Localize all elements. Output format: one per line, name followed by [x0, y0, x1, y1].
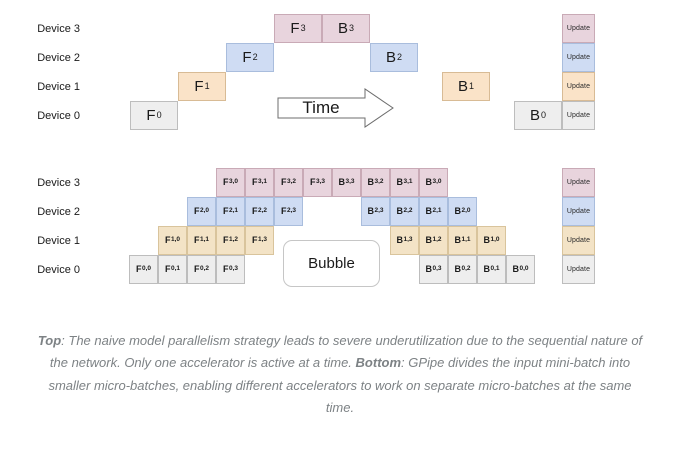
bot-cell-F1-2: F1,2 — [216, 226, 245, 255]
caption-lead-bottom: Bottom — [356, 355, 402, 370]
bot-cell-B1-1-sub: 1,1 — [461, 237, 470, 244]
bot-cell-F0-2: F0,2 — [187, 255, 216, 284]
top-cell-F1: F1 — [178, 72, 226, 101]
bot-cell-F0-3-base: F — [223, 265, 229, 274]
top-cell-B2-base: B — [386, 50, 396, 65]
bot-cell-B1-2: B1,2 — [419, 226, 448, 255]
bot-cell-B3-2: B3,2 — [361, 168, 390, 197]
bot-cell-F2-1-sub: 2,1 — [229, 208, 238, 215]
bot-cell-F2-2: F2,2 — [245, 197, 274, 226]
bot-cell-B1-0-sub: 1,0 — [490, 237, 499, 244]
bot-cell-B2-0-sub: 2,0 — [461, 208, 470, 215]
top-cell-F3: F3 — [274, 14, 322, 43]
bot-cell-B3-3-sub: 3,3 — [345, 179, 354, 186]
bot-cell-B3-1: B3,1 — [390, 168, 419, 197]
bot-cell-B2-2-sub: 2,2 — [403, 208, 412, 215]
bot-cell-B0-3-sub: 0,3 — [432, 266, 441, 273]
bot-cell-B1-3-base: B — [396, 236, 403, 245]
top-cell-F0: F0 — [130, 101, 178, 130]
bot-cell-F2-3: F2,3 — [274, 197, 303, 226]
bot-cell-B3-0: B3,0 — [419, 168, 448, 197]
top-cell-B1: B1 — [442, 72, 490, 101]
bottom-update-device1: Update — [562, 226, 595, 255]
bot-cell-B0-1-sub: 0,1 — [490, 266, 499, 273]
bot-cell-B3-1-sub: 3,1 — [403, 179, 412, 186]
bot-cell-F1-3-base: F — [252, 236, 258, 245]
bottom-update-device2: Update — [562, 197, 595, 226]
top-device-label-3: Device 3 — [18, 24, 80, 35]
top-cell-F2-sub: 2 — [253, 53, 258, 62]
bottom-device-label-1: Device 1 — [18, 236, 80, 247]
bot-cell-B2-3-base: B — [367, 207, 374, 216]
top-cell-B0: B0 — [514, 101, 562, 130]
figure-root: Device 3 Device 2 Device 1 Device 0 F3 B… — [0, 0, 679, 451]
bot-cell-F1-2-base: F — [223, 236, 229, 245]
top-cell-F1-base: F — [194, 79, 203, 94]
bot-cell-F3-3-sub: 3,3 — [316, 179, 325, 186]
bot-cell-B2-1-sub: 2,1 — [432, 208, 441, 215]
bot-cell-F0-0-sub: 0,0 — [142, 266, 151, 273]
bot-cell-F3-3-base: F — [310, 178, 316, 187]
bot-cell-F0-0: F0,0 — [129, 255, 158, 284]
bot-cell-F3-1-base: F — [252, 178, 258, 187]
top-cell-B0-base: B — [530, 108, 540, 123]
bot-cell-B1-3-sub: 1,3 — [403, 237, 412, 244]
top-cell-B2-sub: 2 — [397, 53, 402, 62]
bot-cell-F2-3-base: F — [281, 207, 287, 216]
top-cell-F0-base: F — [146, 108, 155, 123]
bottom-update-device3: Update — [562, 168, 595, 197]
bot-cell-F3-3: F3,3 — [303, 168, 332, 197]
time-arrow: Time — [277, 88, 395, 128]
bot-cell-F1-1-base: F — [194, 236, 200, 245]
top-cell-F1-sub: 1 — [205, 82, 210, 91]
bot-cell-F0-2-base: F — [194, 265, 200, 274]
bot-cell-B1-1-base: B — [454, 236, 461, 245]
bot-cell-B2-0-base: B — [454, 207, 461, 216]
caption-lead-top: Top — [38, 333, 61, 348]
top-device-label-2: Device 2 — [18, 53, 80, 64]
bot-cell-B3-1-base: B — [396, 178, 403, 187]
bot-cell-F3-2-base: F — [281, 178, 287, 187]
bot-cell-F1-3-sub: 1,3 — [258, 237, 267, 244]
top-device-label-0: Device 0 — [18, 111, 80, 122]
bot-cell-B0-2: B0,2 — [448, 255, 477, 284]
top-update-device3: Update — [562, 14, 595, 43]
bot-cell-B3-3: B3,3 — [332, 168, 361, 197]
bot-cell-F2-1: F2,1 — [216, 197, 245, 226]
top-cell-B3-base: B — [338, 21, 348, 36]
time-arrow-icon — [277, 88, 395, 128]
bot-cell-F0-3: F0,3 — [216, 255, 245, 284]
bot-cell-F2-0: F2,0 — [187, 197, 216, 226]
bot-cell-B0-2-base: B — [454, 265, 461, 274]
bot-cell-B0-1-base: B — [483, 265, 490, 274]
top-cell-F2: F2 — [226, 43, 274, 72]
bot-cell-F1-3: F1,3 — [245, 226, 274, 255]
bot-cell-B2-1: B2,1 — [419, 197, 448, 226]
bot-cell-F3-0: F3,0 — [216, 168, 245, 197]
bot-cell-B2-2: B2,2 — [390, 197, 419, 226]
top-cell-B3: B3 — [322, 14, 370, 43]
bot-cell-F0-2-sub: 0,2 — [200, 266, 209, 273]
bot-cell-F1-0-sub: 1,0 — [171, 237, 180, 244]
bot-cell-F0-1-sub: 0,1 — [171, 266, 180, 273]
bot-cell-F2-1-base: F — [223, 207, 229, 216]
bot-cell-B0-3: B0,3 — [419, 255, 448, 284]
top-update-device0: Update — [562, 101, 595, 130]
bot-cell-F2-2-base: F — [252, 207, 258, 216]
bot-cell-F2-0-sub: 2,0 — [200, 208, 209, 215]
bot-cell-F3-1-sub: 3,1 — [258, 179, 267, 186]
top-cell-F0-sub: 0 — [157, 111, 162, 120]
bot-cell-F2-2-sub: 2,2 — [258, 208, 267, 215]
bot-cell-F0-3-sub: 0,3 — [229, 266, 238, 273]
bot-cell-F2-3-sub: 2,3 — [287, 208, 296, 215]
top-update-device2: Update — [562, 43, 595, 72]
bot-cell-F3-2-sub: 3,2 — [287, 179, 296, 186]
bot-cell-F0-1: F0,1 — [158, 255, 187, 284]
top-device-label-1: Device 1 — [18, 82, 80, 93]
top-update-device1: Update — [562, 72, 595, 101]
bot-cell-B0-0-base: B — [512, 265, 519, 274]
top-cell-F3-base: F — [290, 21, 299, 36]
bot-cell-B1-3: B1,3 — [390, 226, 419, 255]
bot-cell-B2-1-base: B — [425, 207, 432, 216]
figure-caption: Top: The naive model parallelism strateg… — [36, 330, 644, 419]
bot-cell-B0-3-base: B — [425, 265, 432, 274]
bot-cell-F3-0-sub: 3,0 — [229, 179, 238, 186]
bubble-box: Bubble — [283, 240, 380, 287]
bot-cell-B1-2-sub: 1,2 — [432, 237, 441, 244]
bottom-device-label-2: Device 2 — [18, 207, 80, 218]
bottom-device-label-0: Device 0 — [18, 265, 80, 276]
bot-cell-F1-0-base: F — [165, 236, 171, 245]
bot-cell-F3-1: F3,1 — [245, 168, 274, 197]
bot-cell-F1-0: F1,0 — [158, 226, 187, 255]
bottom-device-label-3: Device 3 — [18, 178, 80, 189]
top-cell-F3-sub: 3 — [301, 24, 306, 33]
bot-cell-B0-2-sub: 0,2 — [461, 266, 470, 273]
bot-cell-B2-0: B2,0 — [448, 197, 477, 226]
top-cell-B1-base: B — [458, 79, 468, 94]
bot-cell-B3-2-sub: 3,2 — [374, 179, 383, 186]
bot-cell-B1-2-base: B — [425, 236, 432, 245]
bot-cell-F0-0-base: F — [136, 265, 142, 274]
top-cell-B1-sub: 1 — [469, 82, 474, 91]
bot-cell-B3-0-sub: 3,0 — [432, 179, 441, 186]
bot-cell-F3-2: F3,2 — [274, 168, 303, 197]
bot-cell-B2-2-base: B — [396, 207, 403, 216]
bot-cell-F2-0-base: F — [194, 207, 200, 216]
bot-cell-B2-3: B2,3 — [361, 197, 390, 226]
top-cell-B2: B2 — [370, 43, 418, 72]
top-cell-B0-sub: 0 — [541, 111, 546, 120]
bot-cell-B0-1: B0,1 — [477, 255, 506, 284]
bot-cell-F1-2-sub: 1,2 — [229, 237, 238, 244]
bottom-update-device0: Update — [562, 255, 595, 284]
bot-cell-B1-0-base: B — [483, 236, 490, 245]
bot-cell-B1-0: B1,0 — [477, 226, 506, 255]
bot-cell-F1-1-sub: 1,1 — [200, 237, 209, 244]
bot-cell-F3-0-base: F — [223, 178, 229, 187]
bot-cell-B3-3-base: B — [338, 178, 345, 187]
bot-cell-B1-1: B1,1 — [448, 226, 477, 255]
bot-cell-B0-0-sub: 0,0 — [519, 266, 528, 273]
bot-cell-F0-1-base: F — [165, 265, 171, 274]
bot-cell-B3-2-base: B — [367, 178, 374, 187]
top-cell-B3-sub: 3 — [349, 24, 354, 33]
bot-cell-F1-1: F1,1 — [187, 226, 216, 255]
bot-cell-B2-3-sub: 2,3 — [374, 208, 383, 215]
bot-cell-B0-0: B0,0 — [506, 255, 535, 284]
bot-cell-B3-0-base: B — [425, 178, 432, 187]
top-cell-F2-base: F — [242, 50, 251, 65]
